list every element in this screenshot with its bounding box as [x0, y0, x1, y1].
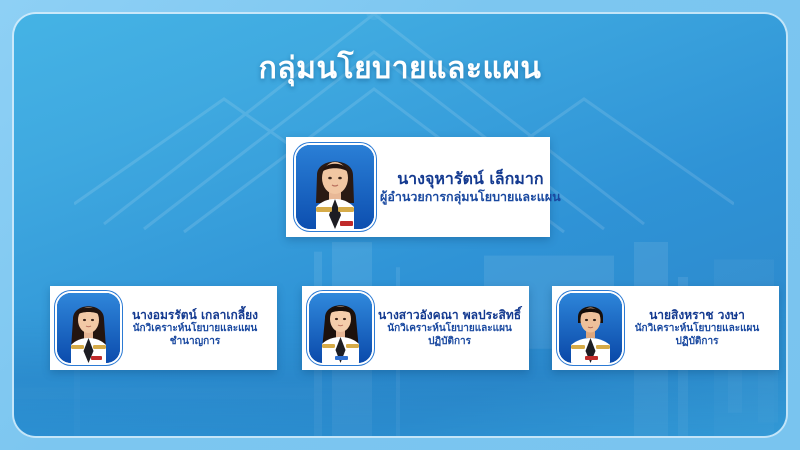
avatar: [296, 145, 374, 229]
slide-panel: กลุ่มนโยบายและแผน: [14, 14, 786, 436]
staff-name: นายสิงหราช วงษา: [628, 308, 766, 323]
staff-role: นักวิเคราะห์นโยบายและแผน: [628, 323, 766, 336]
page-title: กลุ่มนโยบายและแผน: [14, 52, 786, 87]
director-meta: นางจุหารัตน์ เล็กมาก ผู้อำนวยการกลุ่มนโย…: [374, 169, 567, 205]
avatar: [559, 293, 622, 363]
staff-role: นักวิเคราะห์นโยบายและแผน: [378, 323, 521, 336]
outer-frame: กลุ่มนโยบายและแผน: [0, 0, 800, 450]
staff-name: นางอมรรัตน์ เกลาเกลี้ยง: [126, 308, 264, 323]
director-name: นางจุหารัตน์ เล็กมาก: [380, 169, 561, 189]
staff-name: นางสาวอังคณา พลประสิทธิ์: [378, 308, 521, 323]
staff-card[interactable]: นายสิงหราช วงษา นักวิเคราะห์นโยบายและแผน…: [552, 286, 779, 370]
avatar: [309, 293, 372, 363]
staff-meta: นางสาวอังคณา พลประสิทธิ์ นักวิเคราะห์นโย…: [372, 308, 527, 348]
staff-card[interactable]: นางสาวอังคณา พลประสิทธิ์ นักวิเคราะห์นโย…: [302, 286, 529, 370]
staff-card[interactable]: นางอมรรัตน์ เกลาเกลี้ยง นักวิเคราะห์นโยบ…: [50, 286, 277, 370]
staff-meta: นายสิงหราช วงษา นักวิเคราะห์นโยบายและแผน…: [622, 308, 772, 348]
director-card[interactable]: นางจุหารัตน์ เล็กมาก ผู้อำนวยการกลุ่มนโย…: [286, 137, 550, 237]
staff-level: ชำนาญการ: [126, 336, 264, 349]
staff-role: นักวิเคราะห์นโยบายและแผน: [126, 323, 264, 336]
director-role: ผู้อำนวยการกลุ่มนโยบายและแผน: [380, 189, 561, 205]
avatar: [57, 293, 120, 363]
staff-meta: นางอมรรัตน์ เกลาเกลี้ยง นักวิเคราะห์นโยบ…: [120, 308, 270, 348]
staff-level: ปฏิบัติการ: [628, 336, 766, 349]
staff-level: ปฏิบัติการ: [378, 336, 521, 349]
